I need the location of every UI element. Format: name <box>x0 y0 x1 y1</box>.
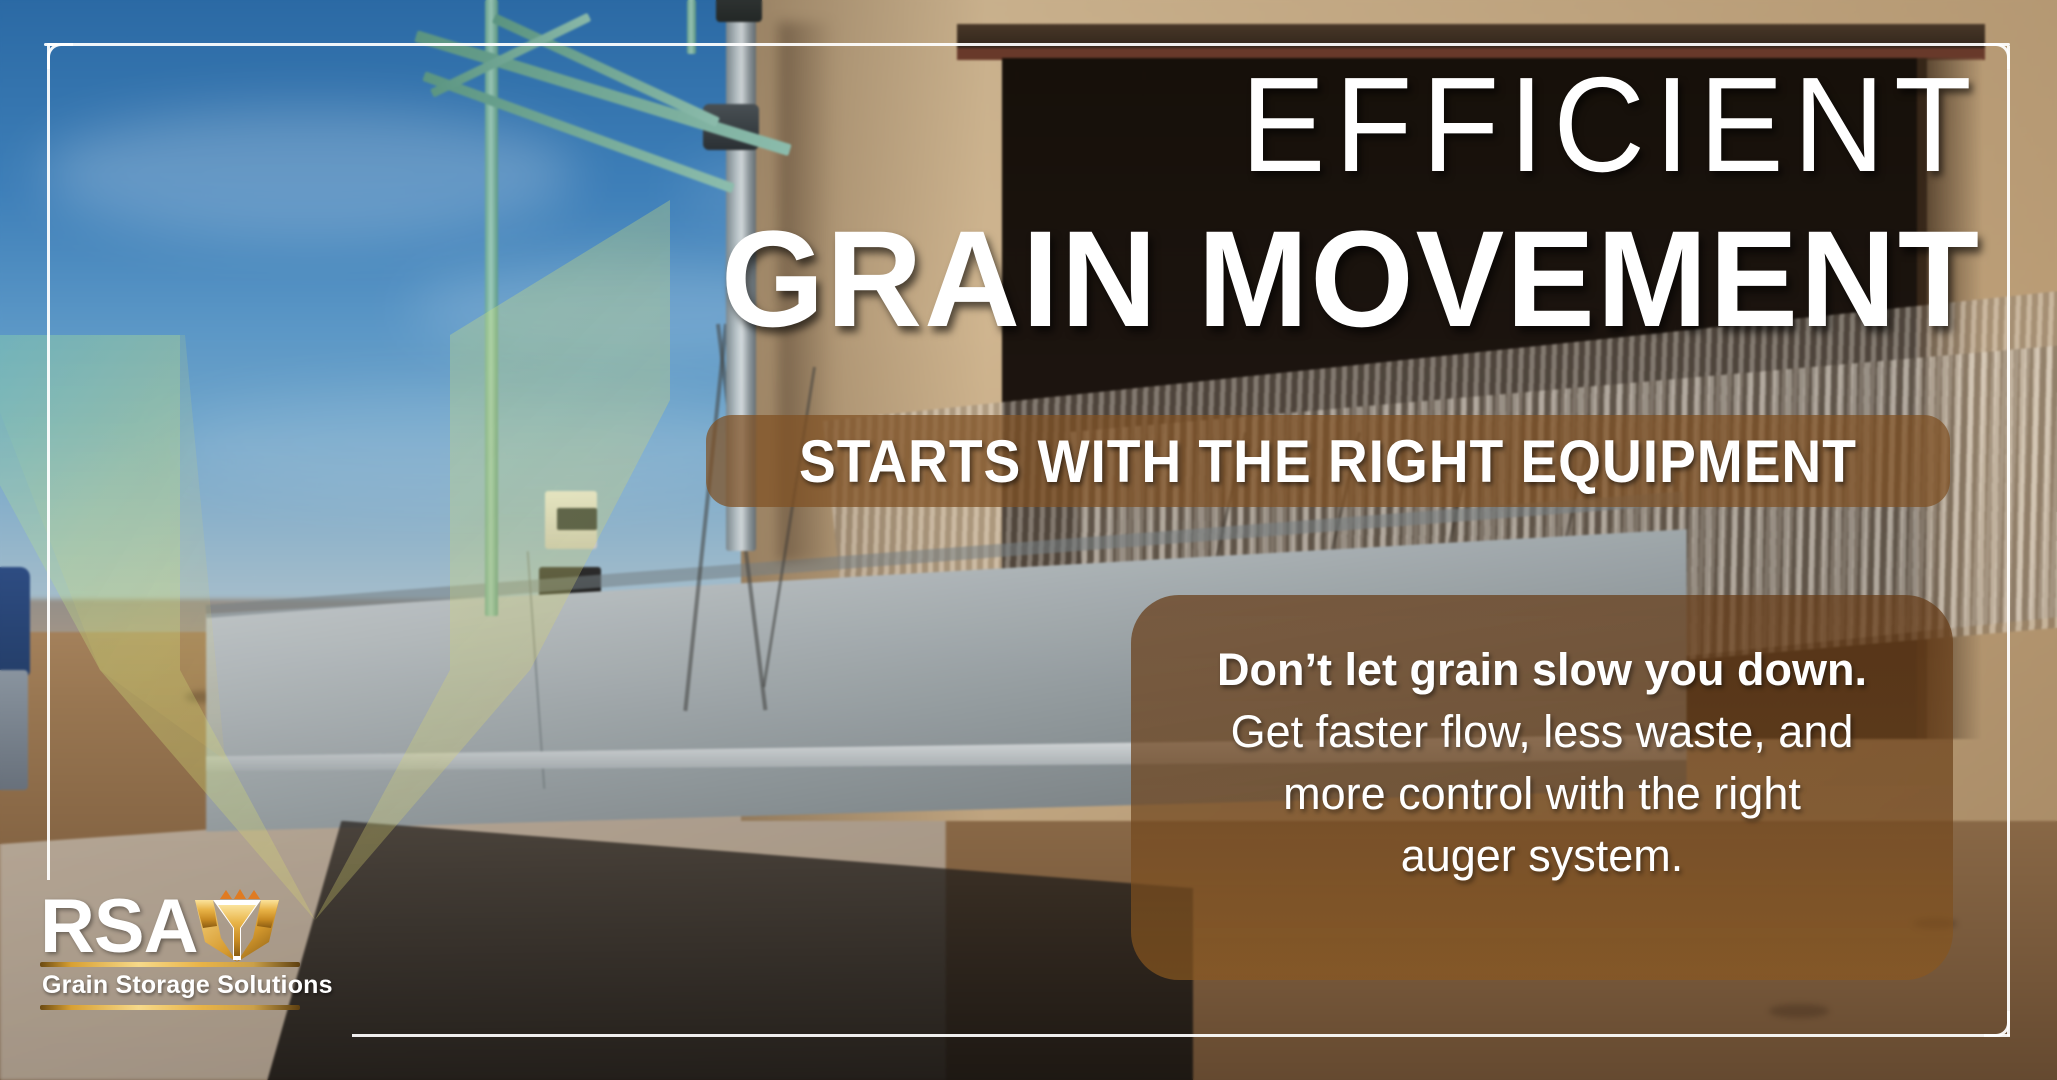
frame-top-line <box>47 43 2010 46</box>
headline-line-2: GRAIN MOVEMENT <box>526 210 1981 350</box>
body-copy-lead: Don’t let grain slow you down. <box>1217 643 1867 696</box>
frame-right-line <box>2007 46 2010 1036</box>
frame-corner-top-right <box>1984 43 2010 69</box>
body-copy-line-2: more control with the right <box>1283 768 1801 820</box>
logo-tagline: Grain Storage Solutions <box>40 967 300 1005</box>
body-copy-line-1: Get faster flow, less waste, and <box>1231 706 1854 758</box>
frame-corner-top-left <box>47 43 73 69</box>
headline: EFFICIENT GRAIN MOVEMENT <box>481 56 1981 349</box>
frame-left-line <box>47 46 50 880</box>
headline-line-1: EFFICIENT <box>571 56 1981 194</box>
rsa-v-funnel-mark <box>191 876 283 962</box>
body-copy-box: Don’t let grain slow you down. Get faste… <box>1131 595 1953 980</box>
body-copy-line-3: auger system. <box>1401 830 1684 882</box>
promo-banner: EFFICIENT GRAIN MOVEMENT STARTS WITH THE… <box>0 0 2057 1080</box>
brand-logo[interactable]: RSA <box>40 880 300 1015</box>
subhead-text: STARTS WITH THE RIGHT EQUIPMENT <box>799 427 1857 496</box>
subhead-bar: STARTS WITH THE RIGHT EQUIPMENT <box>706 415 1950 507</box>
frame-bottom-line <box>352 1034 2010 1037</box>
logo-rule-bottom <box>40 1005 300 1010</box>
logo-wordmark: RSA <box>40 892 197 962</box>
logo-wordmark-row: RSA <box>40 880 300 962</box>
